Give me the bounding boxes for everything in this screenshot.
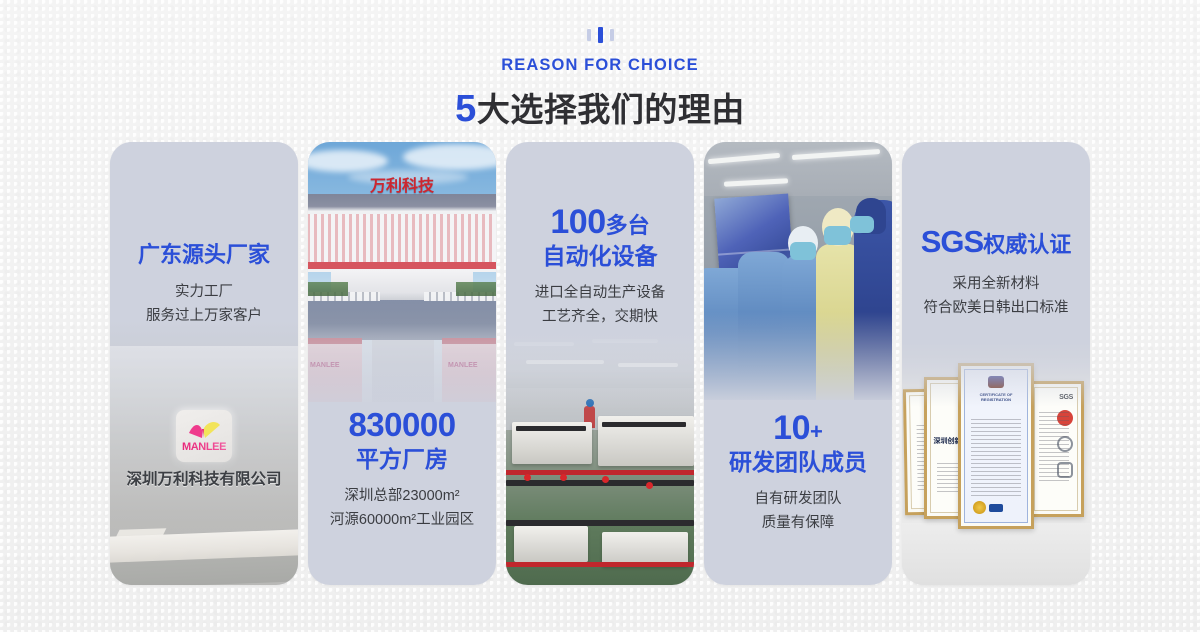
photo-fade-overlay [308, 292, 496, 402]
worker-mask-2 [824, 226, 851, 245]
card1-subtitle: 实力工厂 服务过上万家客户 [110, 281, 298, 329]
worker-mask-3 [850, 216, 874, 233]
card3-stat-line2: 自动化设备 [506, 243, 694, 270]
knob-4 [646, 482, 653, 489]
card1-sub-line1: 实力工厂 [175, 284, 233, 300]
card3-stat-number: 100 [550, 203, 605, 241]
card1-sub-line2: 服务过上万家客户 [146, 308, 262, 324]
card-sgs-certified[interactable]: 深圳创新企 SGS CERTIFICATE OF REGISTRATION [902, 142, 1090, 585]
knob-3 [602, 476, 609, 483]
card-guangdong-factory[interactable]: 广东源头厂家 实力工厂 服务过上万家客户 MANLEE 深圳万利科技有限公司 [110, 142, 298, 585]
card3-sub-line1: 进口全自动生产设备 [535, 285, 666, 301]
card5-title-en: SGS [921, 224, 983, 259]
card-rd-team[interactable]: 10+ 研发团队成员 自有研发团队 质量有保障 [704, 142, 892, 585]
machine-bar-1 [516, 426, 586, 431]
card3-stat-unit: 多台 [606, 213, 650, 238]
card2-stat-number: 830000 [348, 406, 455, 443]
production-line-photo [506, 330, 694, 585]
conveyor-bar-top [506, 480, 694, 486]
cleanroom-inspection-photo [704, 142, 892, 400]
card-automation-equipment[interactable]: 100多台 自动化设备 进口全自动生产设备 工艺齐全，交期快 [506, 142, 694, 585]
reasons-card-list: 广东源头厂家 实力工厂 服务过上万家客户 MANLEE 深圳万利科技有限公司 [110, 142, 1090, 585]
card5-sub-line1: 采用全新材料 [953, 276, 1040, 292]
certificate-text-lines [971, 419, 1021, 498]
header-tick-decoration [587, 27, 614, 43]
machine-bar-2 [602, 422, 686, 427]
card5-title: SGS权威认证 [902, 224, 1090, 261]
photo-fade-overlay [704, 312, 892, 400]
headline-number: 5 [455, 88, 477, 130]
card2-stat-unit-line: 平方厂房 [308, 446, 496, 473]
conveyor-rail-2 [506, 562, 694, 567]
card4-sub-line1: 自有研发团队 [755, 491, 842, 507]
knob-1 [524, 474, 531, 481]
machine-front-right [602, 532, 688, 566]
building-red-band [308, 262, 496, 269]
card3-sub-line2: 工艺齐全，交期快 [542, 309, 658, 325]
card4-sub-line2: 质量有保障 [762, 515, 835, 531]
certificate-gold-seal [973, 501, 986, 514]
certificate-text-lines [1039, 412, 1069, 483]
section-header: REASON FOR CHOICE 5大选择我们的理由 [0, 0, 1200, 132]
manlee-butterfly-icon [187, 420, 221, 440]
tick-right-icon [610, 29, 614, 41]
headline-text: 大选择我们的理由 [477, 91, 745, 128]
certificates-table [902, 523, 1090, 585]
card2-sub-line1: 深圳总部23000m² [344, 488, 459, 504]
card1-title: 广东源头厂家 [110, 237, 298, 269]
card2-stat: 830000 平方厂房 [308, 406, 496, 473]
card4-stat: 10+ 研发团队成员 [704, 408, 892, 476]
roof-sign-text: 万利科技 [308, 172, 496, 196]
card5-subtitle: 采用全新材料 符合欧美日韩出口标准 [902, 273, 1090, 321]
card2-subtitle: 深圳总部23000m² 河源60000m²工业园区 [308, 485, 496, 533]
card3-stat: 100多台 自动化设备 [506, 202, 694, 270]
worker-mask-1 [790, 242, 816, 260]
building-window-stripes [308, 214, 496, 264]
tick-left-icon [587, 29, 591, 41]
company-name-sign: 深圳万利科技有限公司 [110, 467, 298, 489]
fda-badge [989, 504, 1003, 512]
photo-fade-overlay [902, 337, 1090, 407]
manlee-wordmark: MANLEE [182, 441, 226, 453]
card-floor-area[interactable]: 万利科技 MANLEE MANLEE 830000 平方厂房 深圳总部23000… [308, 142, 496, 585]
manlee-logo-plate: MANLEE [176, 410, 232, 462]
knob-2 [560, 474, 567, 481]
photo-fade-overlay [506, 330, 694, 410]
page-title: 5大选择我们的理由 [455, 83, 745, 131]
factory-aerial-photo: 万利科技 MANLEE MANLEE [308, 142, 496, 402]
card4-stat-line2: 研发团队成员 [704, 449, 892, 476]
card5-sub-line2: 符合欧美日韩出口标准 [924, 300, 1069, 316]
card4-subtitle: 自有研发团队 质量有保障 [704, 488, 892, 536]
card3-subtitle: 进口全自动生产设备 工艺齐全，交期快 [506, 282, 694, 330]
card4-stat-unit: + [810, 419, 823, 444]
tick-center-icon [598, 27, 603, 43]
card5-title-cn: 权威认证 [983, 232, 1071, 257]
machine-front-left [514, 526, 588, 562]
conveyor-rail [506, 470, 694, 475]
card2-sub-line2: 河源60000m²工业园区 [330, 512, 474, 528]
company-wall-sign-photo [110, 142, 298, 585]
header-eyebrow: REASON FOR CHOICE [501, 56, 698, 75]
card4-stat-number: 10 [773, 409, 810, 447]
certificates-photo: 深圳创新企 SGS CERTIFICATE OF REGISTRATION [902, 337, 1090, 585]
